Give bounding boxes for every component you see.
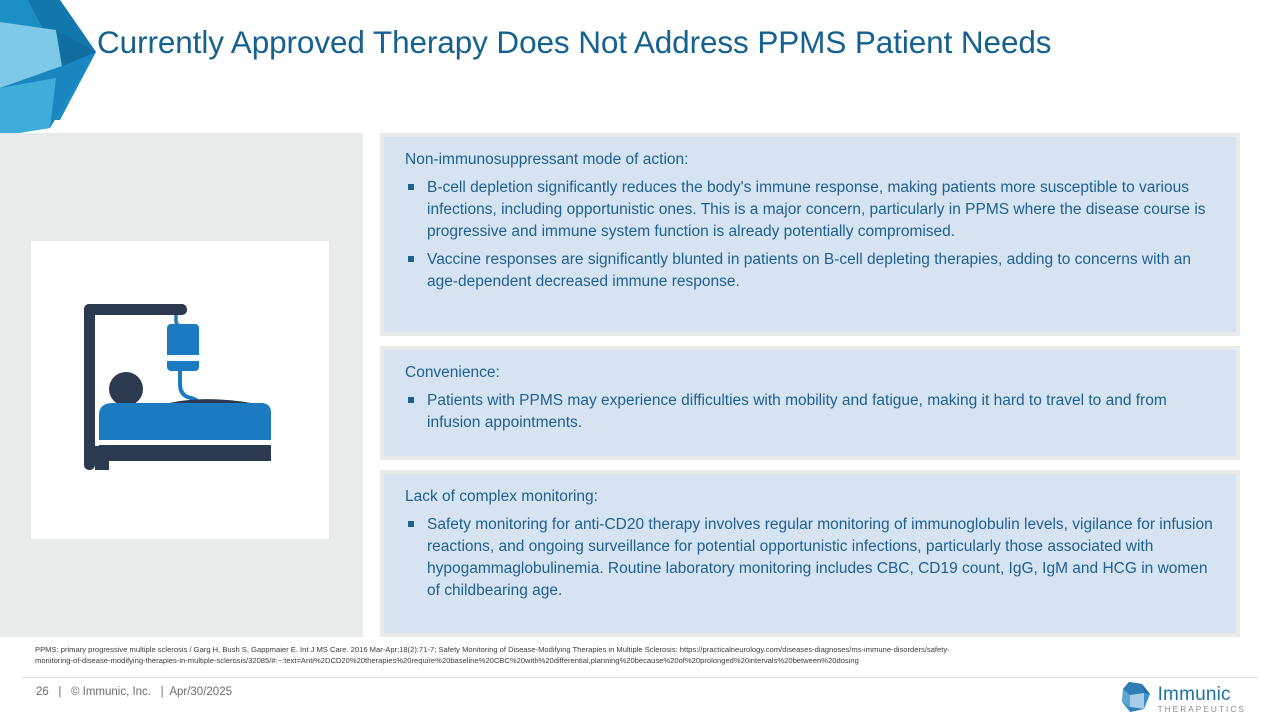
footnote-citation: PPMS: primary progressive multiple scler… — [35, 644, 1225, 666]
list-item: Patients with PPMS may experience diffic… — [405, 390, 1214, 434]
bullet-square-icon — [408, 184, 414, 190]
illustration-card — [31, 241, 329, 539]
bullet-square-icon — [408, 256, 414, 262]
box-heading: Convenience: — [405, 363, 1214, 384]
brand-logo: Immunic THERAPEUTICS — [1120, 681, 1246, 718]
footer-divider — [22, 677, 1258, 678]
footnote-line-1: PPMS: primary progressive multiple scler… — [35, 644, 1225, 655]
brand-tagline: THERAPEUTICS — [1158, 706, 1246, 714]
list-item-text: Safety monitoring for anti-CD20 therapy … — [427, 516, 1213, 599]
list-item: Safety monitoring for anti-CD20 therapy … — [405, 514, 1214, 602]
list-item-text: Patients with PPMS may experience diffic… — [427, 392, 1167, 431]
content-box-lack-of-complex-monitoring: Lack of complex monitoring: Safety monit… — [380, 470, 1240, 637]
box-heading: Lack of complex monitoring: — [405, 487, 1214, 508]
patient-infusion-bed-icon — [76, 300, 284, 480]
box-heading: Non-immunosuppressant mode of action: — [405, 150, 1214, 171]
decorative-corner-graphic — [0, 0, 96, 136]
list-item: Vaccine responses are significantly blun… — [405, 249, 1214, 293]
list-item-text: Vaccine responses are significantly blun… — [427, 251, 1191, 290]
list-item-text: B-cell depletion significantly reduces t… — [427, 179, 1206, 240]
immunic-polygon-icon — [1120, 681, 1151, 718]
bullet-list: Patients with PPMS may experience diffic… — [405, 390, 1214, 434]
bullet-list: B-cell depletion significantly reduces t… — [405, 177, 1214, 293]
bullet-square-icon — [408, 521, 414, 527]
page-title: Currently Approved Therapy Does Not Addr… — [97, 20, 1187, 65]
list-item: B-cell depletion significantly reduces t… — [405, 177, 1214, 243]
brand-wordmark: Immunic THERAPEUTICS — [1158, 685, 1246, 714]
footnote-line-2: monitoring-of-disease-modifying-therapie… — [35, 655, 1225, 666]
brand-name: Immunic — [1158, 685, 1246, 704]
content-box-non-immunosuppressant: Non-immunosuppressant mode of action: B-… — [380, 133, 1240, 336]
bullet-square-icon — [408, 397, 414, 403]
content-box-convenience: Convenience: Patients with PPMS may expe… — [380, 346, 1240, 460]
bullet-list: Safety monitoring for anti-CD20 therapy … — [405, 514, 1214, 602]
footer-meta: 26 | © Immunic, Inc. | Apr/30/2025 — [36, 686, 232, 698]
